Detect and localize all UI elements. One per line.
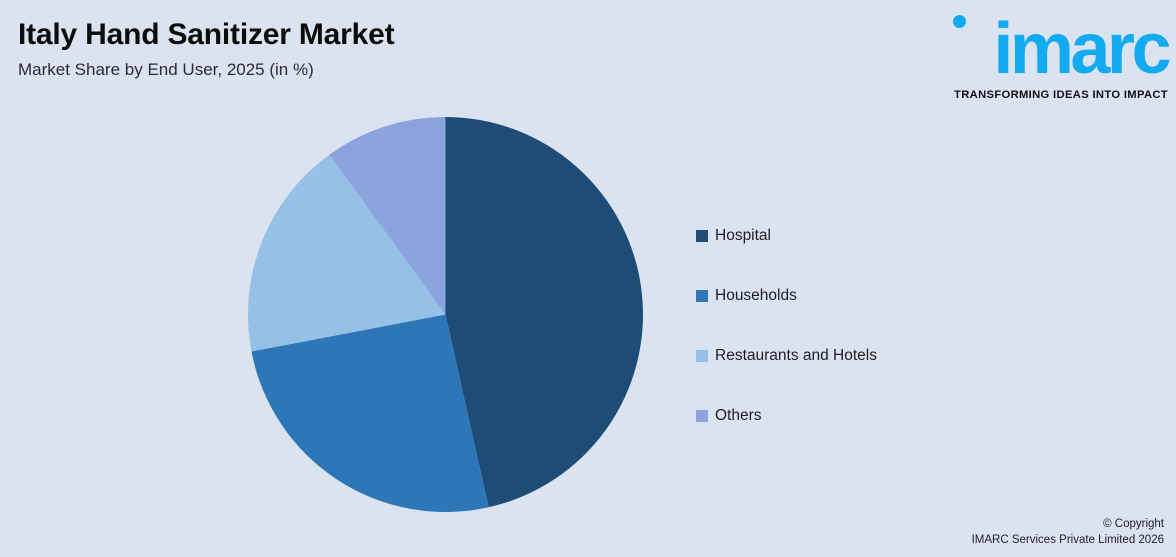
- legend-label: Hospital: [715, 227, 771, 245]
- legend-label: Restaurants and Hotels: [715, 347, 877, 365]
- copyright-line-1: © Copyright: [972, 516, 1164, 532]
- logo-wordmark-wrap: imarc: [928, 8, 1168, 90]
- logo-tagline: TRANSFORMING IDEAS INTO IMPACT: [928, 88, 1168, 102]
- logo-dot-icon: [953, 15, 966, 28]
- pie-slice-group: [248, 117, 643, 512]
- legend-label: Others: [715, 407, 762, 425]
- legend-swatch-icon: [696, 350, 708, 362]
- chart-legend: Hospital Households Restaurants and Hote…: [696, 206, 996, 446]
- legend-item-households[interactable]: Households: [696, 266, 996, 326]
- legend-item-hospital[interactable]: Hospital: [696, 206, 996, 266]
- legend-swatch-icon: [696, 290, 708, 302]
- chart-page: Italy Hand Sanitizer Market Market Share…: [0, 0, 1176, 557]
- legend-item-others[interactable]: Others: [696, 386, 996, 446]
- logo-wordmark-text: imarc: [993, 10, 1168, 88]
- pie-chart-svg: [248, 117, 643, 512]
- legend-swatch-icon: [696, 230, 708, 242]
- copyright-line-2: IMARC Services Private Limited 2026: [972, 532, 1164, 548]
- page-title: Italy Hand Sanitizer Market: [18, 16, 718, 54]
- chart-subtitle: Market Share by End User, 2025 (in %): [18, 58, 718, 82]
- footer-copyright: © Copyright IMARC Services Private Limit…: [972, 516, 1164, 548]
- imarc-logo: imarc TRANSFORMING IDEAS INTO IMPACT: [928, 8, 1168, 102]
- chart-header: Italy Hand Sanitizer Market Market Share…: [18, 16, 718, 82]
- legend-item-restaurants-and-hotels[interactable]: Restaurants and Hotels: [696, 326, 996, 386]
- legend-swatch-icon: [696, 410, 708, 422]
- pie-chart: [248, 117, 643, 512]
- legend-label: Households: [715, 287, 797, 305]
